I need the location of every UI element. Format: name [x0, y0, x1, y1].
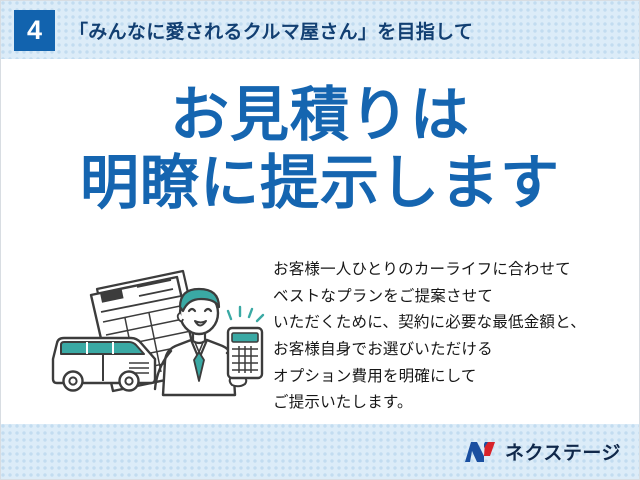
body-copy: お客様一人ひとりのカーライフに合わせて ベストなプランをご提案させて いただくた…: [273, 257, 586, 417]
body-copy-line-6: ご提示いたします。: [273, 390, 586, 417]
banner-footer: ネクステージ: [1, 424, 639, 479]
headline-line-1: お見積りは: [1, 81, 639, 149]
body-copy-line-4: お客様自身でお選びいただける: [273, 337, 586, 364]
section-number-badge: 4: [14, 10, 55, 51]
banner-header: 4 「みんなに愛されるクルマ屋さん」を目指して: [1, 1, 639, 59]
banner-body: お見積りは 明瞭に提示します: [1, 59, 639, 426]
headline: お見積りは 明瞭に提示します: [1, 81, 639, 218]
body-copy-line-5: オプション費用を明確にして: [273, 364, 586, 391]
brand-logo-text: ネクステージ: [505, 438, 621, 465]
headline-line-2: 明瞭に提示します: [1, 149, 639, 217]
van-icon: [53, 338, 155, 391]
calculator-icon: [228, 307, 263, 378]
body-copy-line-2: ベストなプランをご提案させて: [273, 284, 586, 311]
promo-banner: 4 「みんなに愛されるクルマ屋さん」を目指して お見積りは 明瞭に提示します: [0, 0, 640, 480]
header-title: 「みんなに愛されるクルマ屋さん」を目指して: [69, 17, 473, 44]
nextage-n-mark-icon: [464, 440, 498, 464]
illustration: [45, 255, 277, 415]
body-copy-line-3: いただくために、契約に必要な最低金額と、: [273, 310, 586, 337]
illustration-svg: [45, 255, 277, 415]
body-copy-line-1: お客様一人ひとりのカーライフに合わせて: [273, 257, 586, 284]
brand-logo: ネクステージ: [464, 438, 621, 465]
